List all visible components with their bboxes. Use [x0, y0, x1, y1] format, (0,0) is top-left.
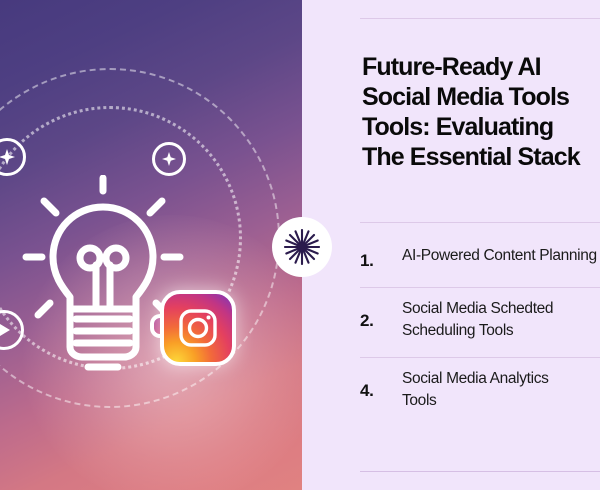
sparkle-icon: [162, 152, 176, 166]
right-content-panel: Future-Ready AI Social Media Tools Tools…: [302, 0, 600, 490]
divider-three: [360, 357, 600, 358]
list-item-label: Social Media Schedted Scheduling Tools: [402, 298, 553, 342]
list-item-number: 4.: [360, 368, 402, 401]
divider-two: [360, 287, 600, 288]
divider-one: [360, 222, 600, 223]
title-line-3: Tools: Evaluating: [362, 112, 600, 142]
list-item[interactable]: 1. AI-Powered Content Planning: [360, 245, 600, 271]
list-item-label: AI-Powered Content Planning: [402, 245, 597, 267]
sparkle-badge-two: [152, 142, 186, 176]
list-item[interactable]: 4. Social Media Analytics Tools: [360, 368, 600, 412]
title-line-1: Future-Ready AI: [362, 52, 600, 82]
list-item-number: 1.: [360, 245, 402, 271]
list-item-number: 2.: [360, 298, 402, 331]
divider-bottom: [360, 471, 600, 472]
starburst-icon: [284, 229, 320, 265]
starburst-badge: [272, 217, 332, 277]
sparkle-icon: [0, 149, 15, 165]
page-title: Future-Ready AI Social Media Tools Tools…: [362, 52, 600, 172]
list-item[interactable]: 2. Social Media Schedted Scheduling Tool…: [360, 298, 600, 342]
left-visual-panel: [0, 0, 302, 490]
title-line-4: The Essential Stack: [362, 142, 600, 172]
instagram-icon: [160, 290, 236, 366]
list-item-label: Social Media Analytics Tools: [402, 368, 549, 412]
title-line-2: Social Media Tools: [362, 82, 600, 112]
play-icon: [0, 322, 12, 338]
divider-top: [360, 18, 600, 19]
slide-canvas: Future-Ready AI Social Media Tools Tools…: [0, 0, 600, 490]
